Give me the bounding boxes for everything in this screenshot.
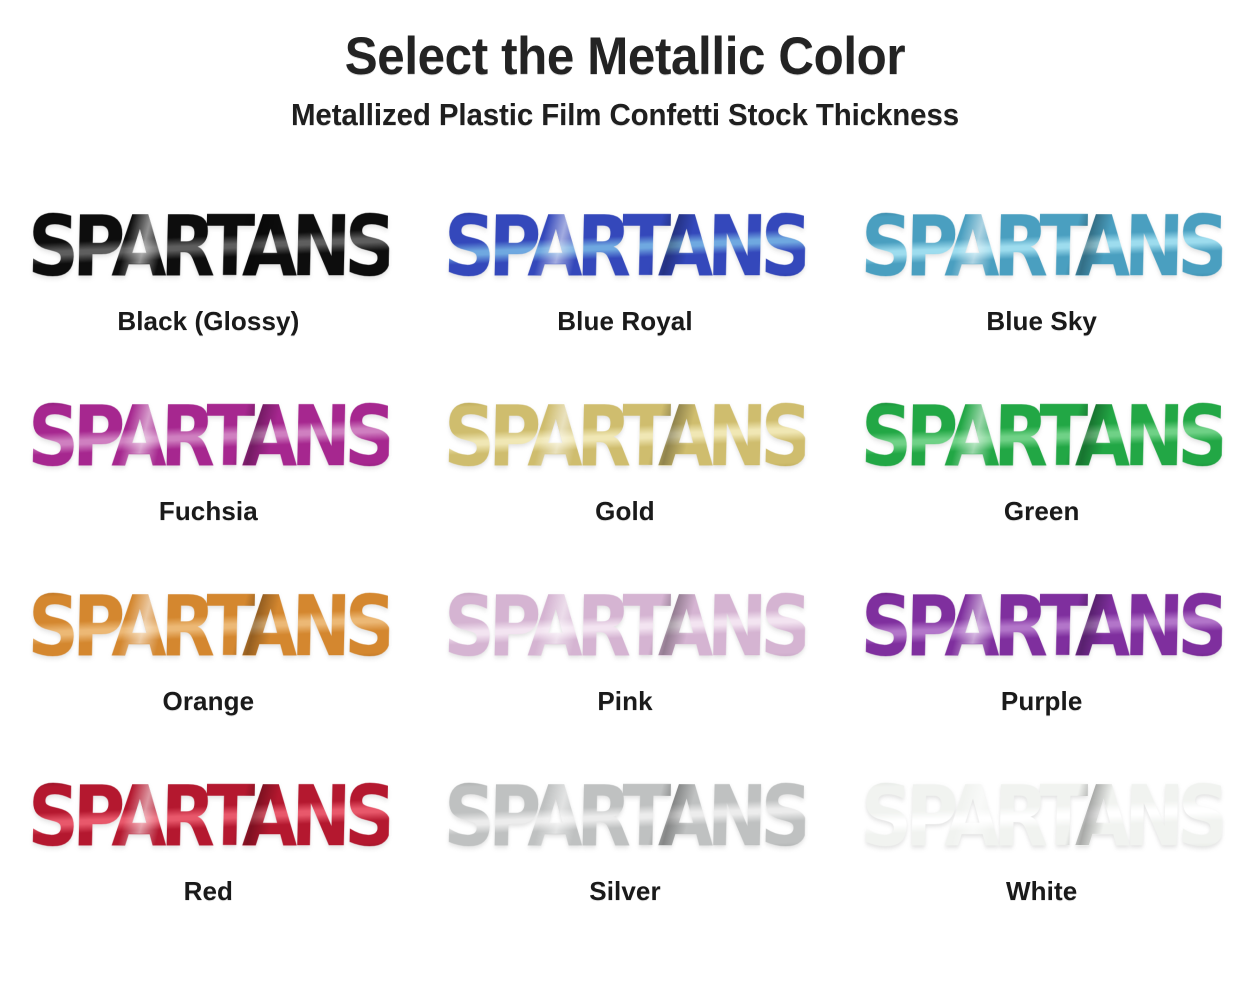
spartans-wordart: SPARTANSSPARTANS (868, 770, 1216, 862)
spartans-wordart: SPARTANSSPARTANS (451, 390, 799, 482)
spartans-wordart: SPARTANSSPARTANS (451, 770, 799, 862)
color-swatch-label: Red (184, 876, 233, 907)
spartans-wordart-text: SPARTANS (27, 204, 391, 288)
spartans-wordart-text: SPARTANS (860, 774, 1224, 858)
color-swatch-option[interactable]: SPARTANSSPARTANSRed (0, 758, 417, 948)
color-swatch-option[interactable]: SPARTANSSPARTANSGold (417, 378, 834, 568)
spartans-wordart: SPARTANSSPARTANS (34, 390, 382, 482)
color-swatch-option[interactable]: SPARTANSSPARTANSBlack (Glossy) (0, 188, 417, 378)
spartans-wordart: SPARTANSSPARTANS (451, 580, 799, 672)
page-title: Select the Metallic Color (44, 28, 1207, 85)
color-swatch-label: White (1006, 876, 1077, 907)
spartans-wordart-text: SPARTANS (443, 774, 807, 858)
color-swatch-label: Purple (1001, 686, 1083, 717)
color-swatch-option[interactable]: SPARTANSSPARTANSBlue Royal (417, 188, 834, 378)
spartans-wordart: SPARTANSSPARTANS (34, 770, 382, 862)
color-swatch-label: Gold (595, 496, 655, 527)
color-swatch-option[interactable]: SPARTANSSPARTANSBlue Sky (833, 188, 1250, 378)
spartans-wordart-text: SPARTANS (860, 584, 1224, 668)
color-swatch-option[interactable]: SPARTANSSPARTANSPink (417, 568, 834, 758)
spartans-wordart-text: SPARTANS (27, 774, 391, 858)
color-swatch-option[interactable]: SPARTANSSPARTANSPurple (833, 568, 1250, 758)
page-header: Select the Metallic Color Metallized Pla… (0, 28, 1250, 133)
color-swatch-label: Fuchsia (159, 496, 258, 527)
spartans-wordart: SPARTANSSPARTANS (34, 200, 382, 292)
color-swatch-option[interactable]: SPARTANSSPARTANSFuchsia (0, 378, 417, 568)
color-swatch-label: Green (1004, 496, 1080, 527)
color-swatch-option[interactable]: SPARTANSSPARTANSOrange (0, 568, 417, 758)
color-swatch-label: Blue Sky (986, 306, 1097, 337)
color-swatch-option[interactable]: SPARTANSSPARTANSSilver (417, 758, 834, 948)
spartans-wordart: SPARTANSSPARTANS (34, 580, 382, 672)
spartans-wordart-text: SPARTANS (443, 584, 807, 668)
color-swatch-label: Black (Glossy) (117, 306, 299, 337)
color-swatch-option[interactable]: SPARTANSSPARTANSWhite (833, 758, 1250, 948)
spartans-wordart-text: SPARTANS (27, 584, 391, 668)
spartans-wordart-text: SPARTANS (443, 204, 807, 288)
color-swatch-label: Silver (589, 876, 660, 907)
page-subtitle: Metallized Plastic Film Confetti Stock T… (31, 97, 1219, 133)
spartans-wordart: SPARTANSSPARTANS (868, 390, 1216, 482)
color-swatch-label: Blue Royal (557, 306, 692, 337)
color-swatch-option[interactable]: SPARTANSSPARTANSGreen (833, 378, 1250, 568)
color-swatch-grid: SPARTANSSPARTANSBlack (Glossy)SPARTANSSP… (0, 188, 1250, 948)
spartans-wordart: SPARTANSSPARTANS (451, 200, 799, 292)
spartans-wordart: SPARTANSSPARTANS (868, 200, 1216, 292)
spartans-wordart: SPARTANSSPARTANS (868, 580, 1216, 672)
color-swatch-label: Orange (163, 686, 255, 717)
color-swatch-label: Pink (597, 686, 652, 717)
spartans-wordart-text: SPARTANS (860, 394, 1224, 478)
color-selection-page: Select the Metallic Color Metallized Pla… (0, 0, 1250, 1000)
spartans-wordart-text: SPARTANS (27, 394, 391, 478)
spartans-wordart-text: SPARTANS (443, 394, 807, 478)
spartans-wordart-text: SPARTANS (860, 204, 1224, 288)
